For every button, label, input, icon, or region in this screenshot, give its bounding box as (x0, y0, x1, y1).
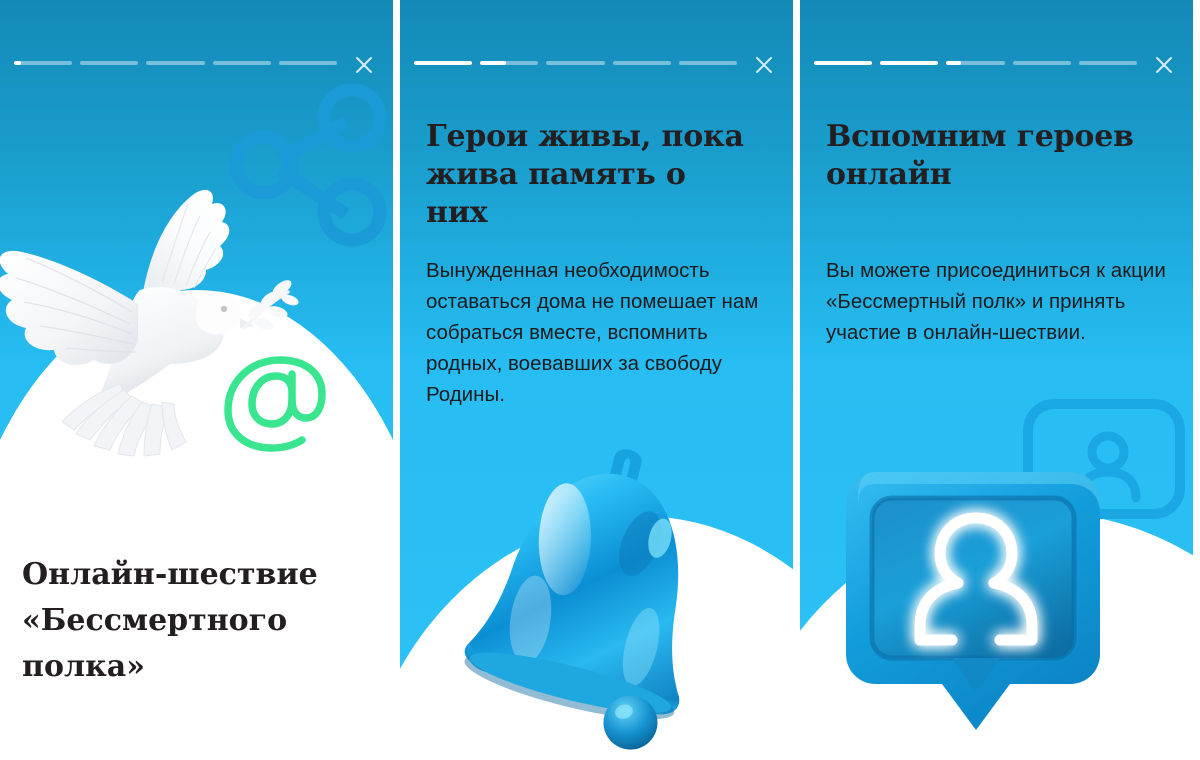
story-panel-3[interactable]: Вспомним героев онлайн Вы можете присоед… (800, 0, 1193, 760)
at-symbol-icon (222, 356, 326, 452)
close-icon[interactable] (747, 48, 781, 82)
close-icon[interactable] (1147, 48, 1181, 82)
story-progress-1[interactable] (14, 61, 337, 66)
panel-1-footer-title: Онлайн-шествие «Бессмертного полка» (22, 552, 372, 690)
progress-segment[interactable] (213, 61, 271, 65)
progress-segment[interactable] (279, 61, 337, 65)
panel-3-headline: Вспомним героев онлайн (826, 118, 1156, 194)
progress-segment[interactable] (14, 61, 72, 65)
profile-bubble-3d-illustration (842, 468, 1110, 758)
story-carousel: Онлайн-шествие «Бессмертного полка» (0, 0, 1200, 760)
progress-segment[interactable] (679, 61, 737, 65)
story-panel-2[interactable]: Герои живы, пока жива память о них Вынуж… (400, 0, 793, 760)
progress-segment[interactable] (946, 61, 1004, 65)
progress-segment[interactable] (480, 61, 538, 65)
progress-segment[interactable] (546, 61, 604, 65)
progress-segment[interactable] (613, 61, 671, 65)
progress-segment[interactable] (80, 61, 138, 65)
panel-2-body: Вынужденная необходимость оставаться дом… (426, 255, 772, 410)
close-icon[interactable] (347, 48, 381, 82)
story-progress-2[interactable] (414, 61, 737, 66)
story-panel-1[interactable]: Онлайн-шествие «Бессмертного полка» (0, 0, 393, 760)
panel-2-headline: Герои живы, пока жива память о них (426, 118, 756, 232)
progress-segment[interactable] (1079, 61, 1137, 65)
progress-segment[interactable] (814, 61, 872, 65)
panel-3-body: Вы можете присоединиться к акции «Бессме… (826, 255, 1172, 348)
progress-segment[interactable] (414, 61, 472, 65)
story-progress-3[interactable] (814, 61, 1137, 66)
bell-illustration (450, 438, 740, 738)
progress-segment[interactable] (880, 61, 938, 65)
progress-segment[interactable] (1013, 61, 1071, 65)
progress-segment[interactable] (146, 61, 204, 65)
